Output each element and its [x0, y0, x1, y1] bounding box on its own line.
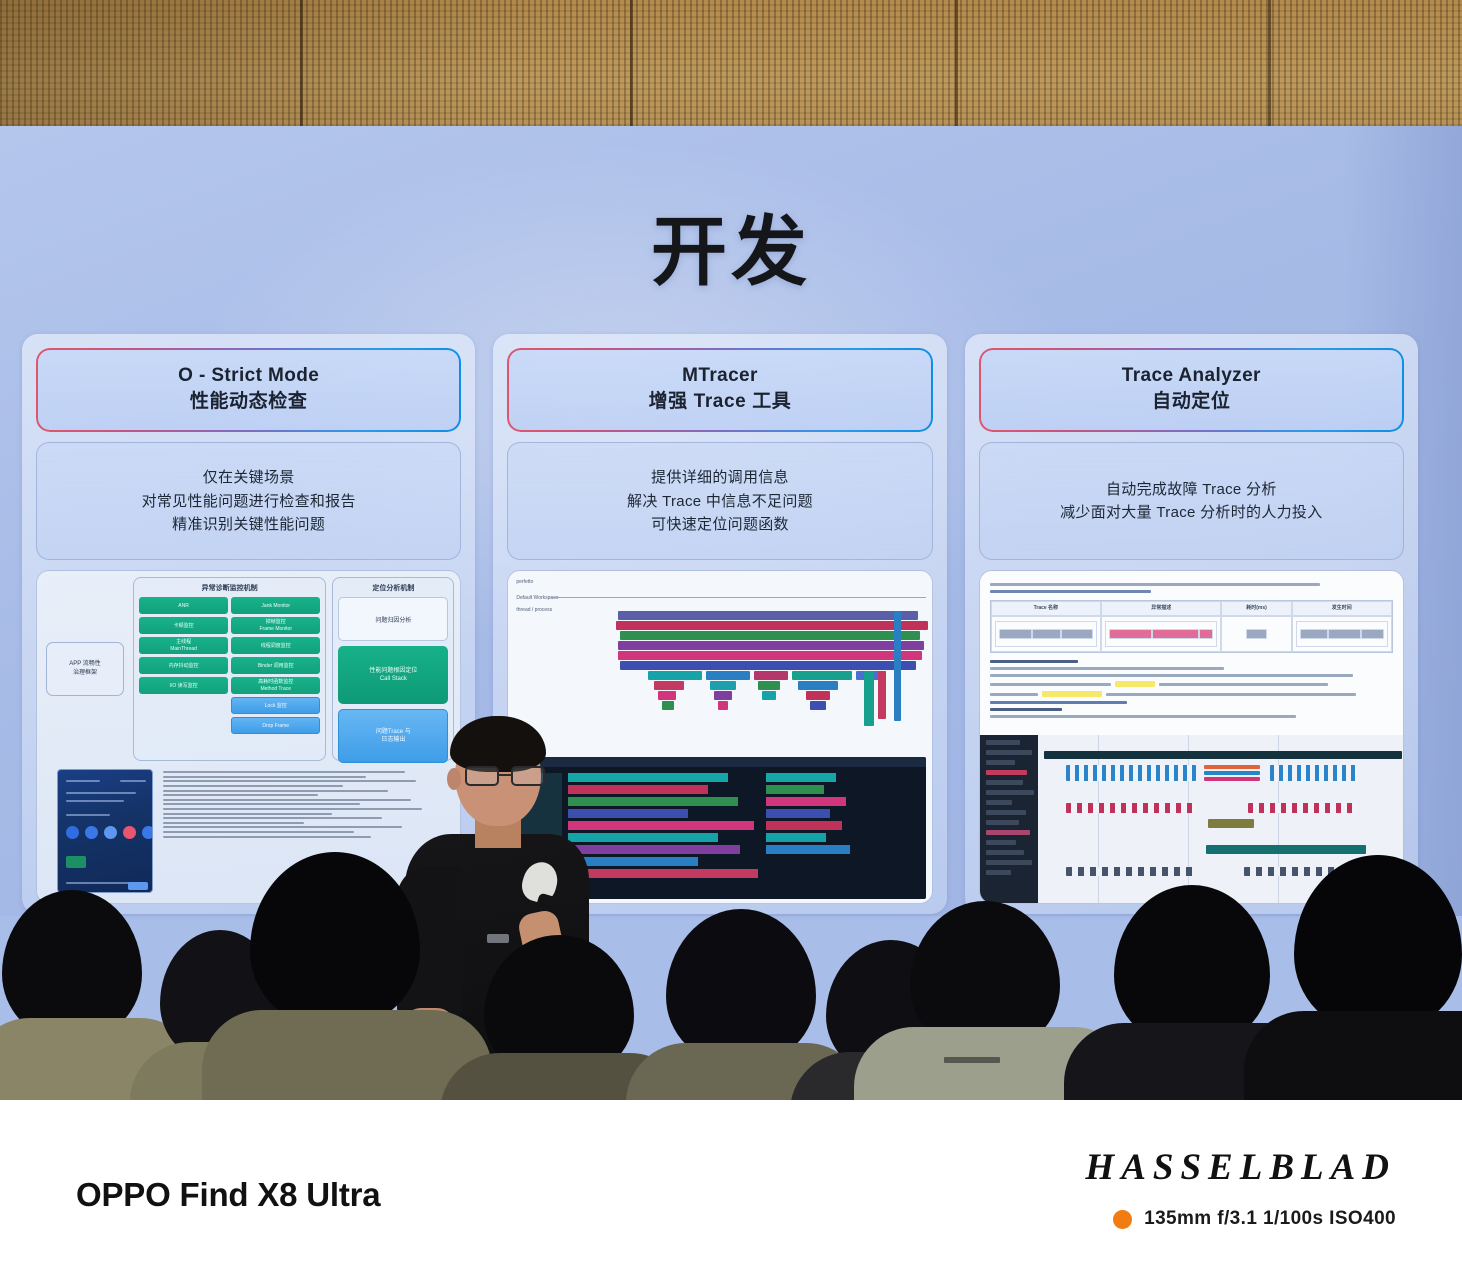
table-cell [991, 616, 1101, 652]
slide-title: 开发 [0, 190, 1462, 300]
desc-line: 精准识别关键性能问题 [172, 513, 325, 536]
table-cell [1101, 616, 1221, 652]
hasselblad-logo: HASSELBLAD [1085, 1146, 1396, 1189]
speaker-hair [450, 716, 546, 772]
diagram-green-box: 内存抖动监控 [139, 657, 228, 674]
card-title-en: Trace Analyzer [989, 363, 1394, 389]
device-name: OPPO Find X8 Ultra [76, 1176, 380, 1214]
card-header: MTracer 增强 Trace 工具 [507, 348, 932, 432]
table-cell [1221, 616, 1291, 652]
diagram-green-box: 主线程MainThread [139, 637, 228, 654]
exif-row: 135mm f/3.1 1/100s ISO400 [1113, 1208, 1396, 1230]
desc-line: 可快速定位问题函数 [651, 513, 789, 536]
card-title-cn: 自动定位 [989, 389, 1394, 416]
diagram-green-box: I/O 读写监控 [139, 677, 228, 694]
table-cell [1292, 616, 1392, 652]
table-header-cell: 耗时(ms) [1221, 601, 1291, 616]
ceiling-seam [300, 0, 303, 140]
diagram-blue-box: Lock 监控 [231, 697, 320, 714]
speaker-ear [447, 768, 461, 790]
diagram-analysis-title: 定位分析机制 [338, 583, 448, 593]
diagram-right-green-box: 性能问题根因定位Call Stack [338, 646, 448, 704]
photograph: 开发 O - Strict Mode 性能动态检查 仅在关键场景 对常见性能问题… [0, 0, 1462, 1100]
diagram-green-box: 线程调度监控 [231, 637, 320, 654]
diagram-green-box: 卡顿监控 [139, 617, 228, 634]
audience-person [220, 870, 470, 1100]
diagram-green-box: 掉帧监控Frame Monitor [231, 617, 320, 634]
table-header-cell: Trace 名称 [991, 601, 1101, 616]
exif-text: 135mm f/3.1 1/100s ISO400 [1144, 1208, 1396, 1230]
audience-person [1270, 875, 1462, 1100]
diagram-green-box: Binder 调用监控 [231, 657, 320, 674]
diagram-monitor-panel: 异常诊断监控机制 ANR Jank Monitor 卡顿监控 掉帧监控Frame… [133, 577, 326, 761]
card-header: Trace Analyzer 自动定位 [979, 348, 1404, 432]
desc-line: 提供详细的调用信息 [651, 466, 789, 489]
card-title-en: O - Strict Mode [46, 363, 451, 389]
shirt-print [944, 1057, 1000, 1063]
card-description: 仅在关键场景 对常见性能问题进行检查和报告 精准识别关键性能问题 [36, 442, 461, 560]
card-description: 自动完成故障 Trace 分析 减少面对大量 Trace 分析时的人力投入 [979, 442, 1404, 560]
diagram-blue-box: Drop Frame [231, 717, 320, 734]
slide-card-row: O - Strict Mode 性能动态检查 仅在关键场景 对常见性能问题进行检… [22, 334, 1418, 914]
glasses-icon [465, 766, 547, 786]
card-title-cn: 性能动态检查 [46, 389, 451, 416]
report-table: Trace 名称 异常描述 耗时(ms) 发生时间 [990, 600, 1393, 653]
card-title-cn: 增强 Trace 工具 [517, 389, 922, 416]
diagram-app-framework-box: APP 流畅性治理框架 [46, 642, 124, 696]
card-header: O - Strict Mode 性能动态检查 [36, 348, 461, 432]
card-description: 提供详细的调用信息 解决 Trace 中信息不足问题 可快速定位问题函数 [507, 442, 932, 560]
trace-workspace-label: Default Workspace [516, 595, 558, 601]
desc-line: 仅在关键场景 [203, 466, 295, 489]
desc-line: 自动完成故障 Trace 分析 [1106, 478, 1277, 501]
diagram-green-box: 高耗时函数监控Method Trace [231, 677, 320, 694]
table-header-cell: 发生时间 [1292, 601, 1392, 616]
table-header-cell: 异常描述 [1101, 601, 1221, 616]
diagram-green-box: ANR [139, 597, 228, 614]
diagram-monitor-title: 异常诊断监控机制 [139, 583, 320, 593]
orange-dot-icon [1113, 1210, 1132, 1229]
desc-line: 对常见性能问题进行检查和报告 [142, 490, 356, 513]
diagram-green-box: Jank Monitor [231, 597, 320, 614]
card-media-analysis-report: Trace 名称 异常描述 耗时(ms) 发生时间 [979, 570, 1404, 904]
card-trace-analyzer: Trace Analyzer 自动定位 自动完成故障 Trace 分析 减少面对… [965, 334, 1418, 914]
card-title-en: MTracer [517, 363, 922, 389]
desc-line: 减少面对大量 Trace 分析时的人力投入 [1060, 501, 1322, 524]
watermark-footer: OPPO Find X8 Ultra HASSELBLAD 135mm f/3.… [0, 1100, 1462, 1280]
diagram-white-box: 问题归因分析 [338, 597, 448, 641]
desc-line: 解决 Trace 中信息不足问题 [627, 490, 813, 513]
audience-row [0, 870, 1462, 1100]
